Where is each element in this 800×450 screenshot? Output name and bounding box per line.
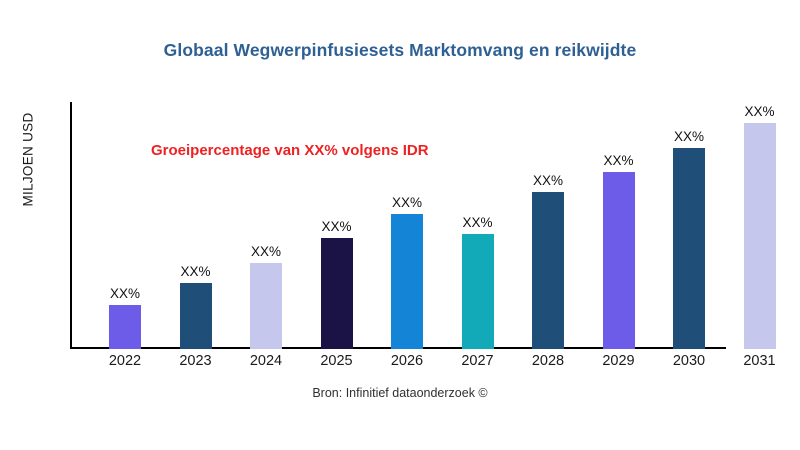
bar-2030: XX%: [673, 148, 705, 349]
bar-2026: XX%: [391, 214, 423, 349]
plot-area: XX%XX%XX%XX%XX%XX%XX%XX%XX%XX%: [0, 0, 800, 450]
bar-value-label: XX%: [533, 173, 563, 188]
bar-value-label: XX%: [674, 129, 704, 144]
bar-value-label: XX%: [392, 195, 422, 210]
x-tick-label-2027: 2027: [443, 353, 513, 369]
x-tick-label-2023: 2023: [161, 353, 231, 369]
bar-value-label: XX%: [180, 264, 210, 279]
growth-rate-annotation: Groeipercentage van XX% volgens IDR: [151, 142, 429, 159]
bar-value-label: XX%: [321, 219, 351, 234]
x-tick-label-2029: 2029: [584, 353, 654, 369]
bar-value-label: XX%: [110, 286, 140, 301]
x-tick-label-2030: 2030: [654, 353, 724, 369]
x-tick-label-2025: 2025: [302, 353, 372, 369]
bar-2028: XX%: [532, 192, 564, 349]
bar-2031: XX%: [744, 123, 776, 349]
bar-2025: XX%: [321, 238, 353, 349]
chart-container: Globaal Wegwerpinfusiesets Marktomvang e…: [0, 0, 800, 450]
bar-value-label: XX%: [603, 153, 633, 168]
x-tick-label-2024: 2024: [231, 353, 301, 369]
bar-2024: XX%: [250, 263, 282, 349]
x-tick-label-2031: 2031: [725, 353, 795, 369]
x-tick-label-2028: 2028: [513, 353, 583, 369]
bar-value-label: XX%: [251, 244, 281, 259]
bar-2027: XX%: [462, 234, 494, 349]
bar-2029: XX%: [603, 172, 635, 349]
bar-2022: XX%: [109, 305, 141, 349]
bar-value-label: XX%: [462, 215, 492, 230]
bar-value-label: XX%: [744, 104, 774, 119]
source-note: Bron: Infinitief dataonderzoek ©: [0, 386, 800, 400]
x-tick-label-2022: 2022: [90, 353, 160, 369]
bar-2023: XX%: [180, 283, 212, 349]
x-tick-label-2026: 2026: [372, 353, 442, 369]
